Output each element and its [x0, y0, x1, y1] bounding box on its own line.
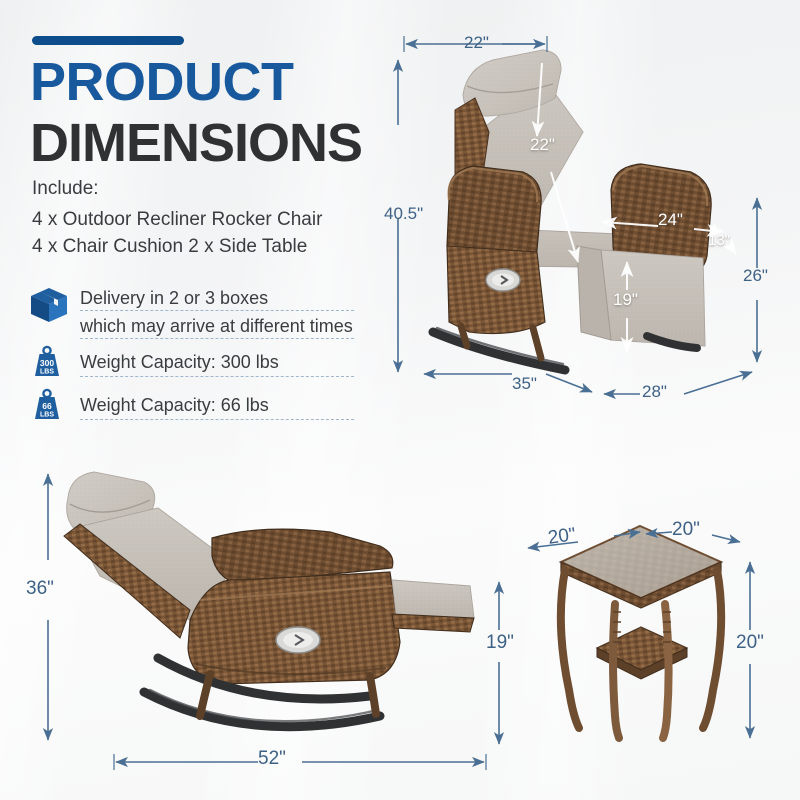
shipping-box-icon	[28, 285, 70, 325]
dim-label-reclined-length: 52"	[258, 748, 286, 770]
weight-300-unit: LBS	[40, 369, 54, 376]
dim-label-seat-thickness: 13"	[708, 232, 730, 249]
feature-delivery-line2: which may arrive at different times	[80, 316, 353, 337]
feature-divider-4	[80, 419, 354, 420]
include-item-cushion-table: 4 x Chair Cushion 2 x Side Table	[32, 236, 307, 258]
dim-label-table-height: 20"	[736, 632, 764, 654]
include-item-chair: 4 x Outdoor Recliner Rocker Chair	[32, 209, 322, 231]
feature-divider-1	[80, 310, 354, 311]
page-title-line2: DIMENSIONS	[30, 116, 362, 170]
dim-label-overall-height: 40.5"	[384, 204, 423, 224]
include-heading: Include:	[32, 178, 99, 200]
dim-label-table-width-right: 20"	[672, 519, 700, 541]
chair-upright-illustration	[415, 40, 765, 390]
dim-label-seat-height-right: 26"	[743, 266, 768, 286]
page-title-line1: PRODUCT	[30, 55, 294, 109]
dim-label-backrest-height: 22"	[530, 135, 555, 155]
weight-66-unit: LBS	[40, 412, 54, 419]
dim-label-reclined-footrest-height: 19"	[486, 632, 514, 654]
dim-label-rocker-length: 35"	[512, 374, 537, 394]
feature-capacity-66: Weight Capacity: 66 lbs	[80, 395, 269, 416]
feature-capacity-300: Weight Capacity: 300 lbs	[80, 352, 279, 373]
dim-label-top-width: 22"	[464, 33, 489, 53]
accent-bar	[32, 36, 184, 45]
product-dimensions-infographic: PRODUCT DIMENSIONS Include: 4 x Outdoor …	[0, 0, 800, 800]
dim-label-seat-depth: 24"	[658, 210, 683, 230]
dim-label-depth: 28"	[642, 382, 667, 402]
weight-66lbs-icon: 66 LBS	[30, 388, 64, 422]
feature-delivery-line1: Delivery in 2 or 3 boxes	[80, 288, 268, 309]
feature-divider-3	[80, 376, 354, 377]
weight-300-value: 300	[40, 358, 54, 368]
dim-label-reclined-height: 36"	[26, 578, 54, 600]
weight-66-value: 66	[42, 401, 52, 411]
side-table-illustration	[545, 520, 735, 750]
dim-label-table-width-left: 20"	[547, 524, 578, 550]
weight-300lbs-icon: 300 LBS	[30, 345, 64, 379]
chair-reclined-illustration	[40, 460, 510, 760]
feature-divider-2	[80, 338, 354, 339]
dim-label-footrest-height-upright: 19"	[613, 290, 638, 310]
